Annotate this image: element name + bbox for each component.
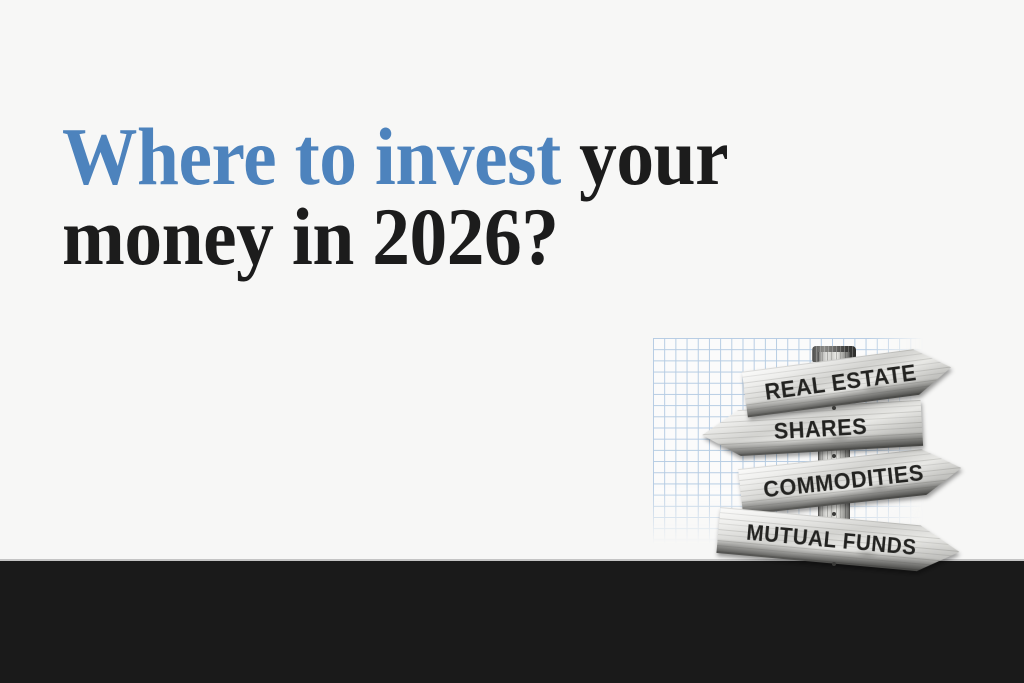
poster-canvas: Where to invest your money in 2026? REAL…	[0, 0, 1024, 683]
headline-line-1: Where to invest your	[62, 117, 724, 197]
headline-accent-text: Where to invest	[62, 111, 561, 202]
page-title: Where to invest your money in 2026?	[62, 117, 724, 278]
bottom-black-band	[0, 561, 1024, 683]
sign-bolt	[832, 512, 836, 516]
headline-line-1-rest: your	[561, 111, 728, 202]
sign-bolt	[832, 406, 836, 410]
sign-bolt	[832, 562, 836, 566]
headline-line-2: money in 2026?	[62, 197, 724, 277]
sign-bolt	[832, 454, 836, 458]
